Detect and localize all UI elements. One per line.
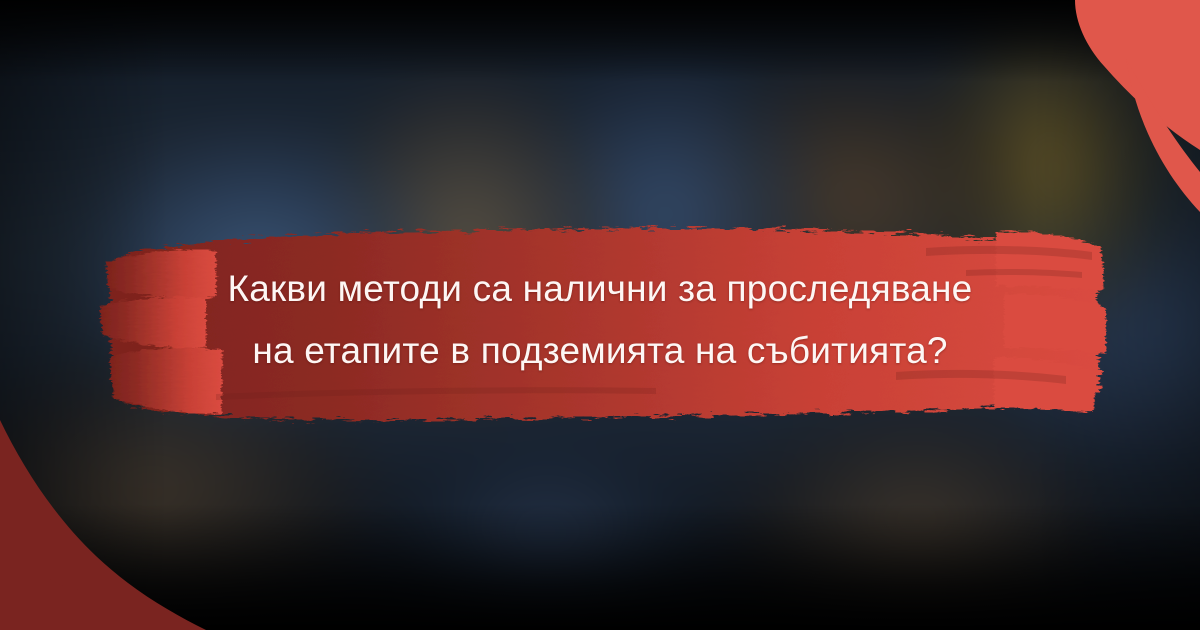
social-share-card: Какви методи са налични за проследяване … <box>0 0 1200 630</box>
brush-stroke-banner <box>96 196 1108 444</box>
brush-left-tongue-bottom <box>110 348 222 414</box>
brush-right-tongue-top <box>996 232 1104 292</box>
top-right-red-swoosh <box>1075 0 1200 150</box>
